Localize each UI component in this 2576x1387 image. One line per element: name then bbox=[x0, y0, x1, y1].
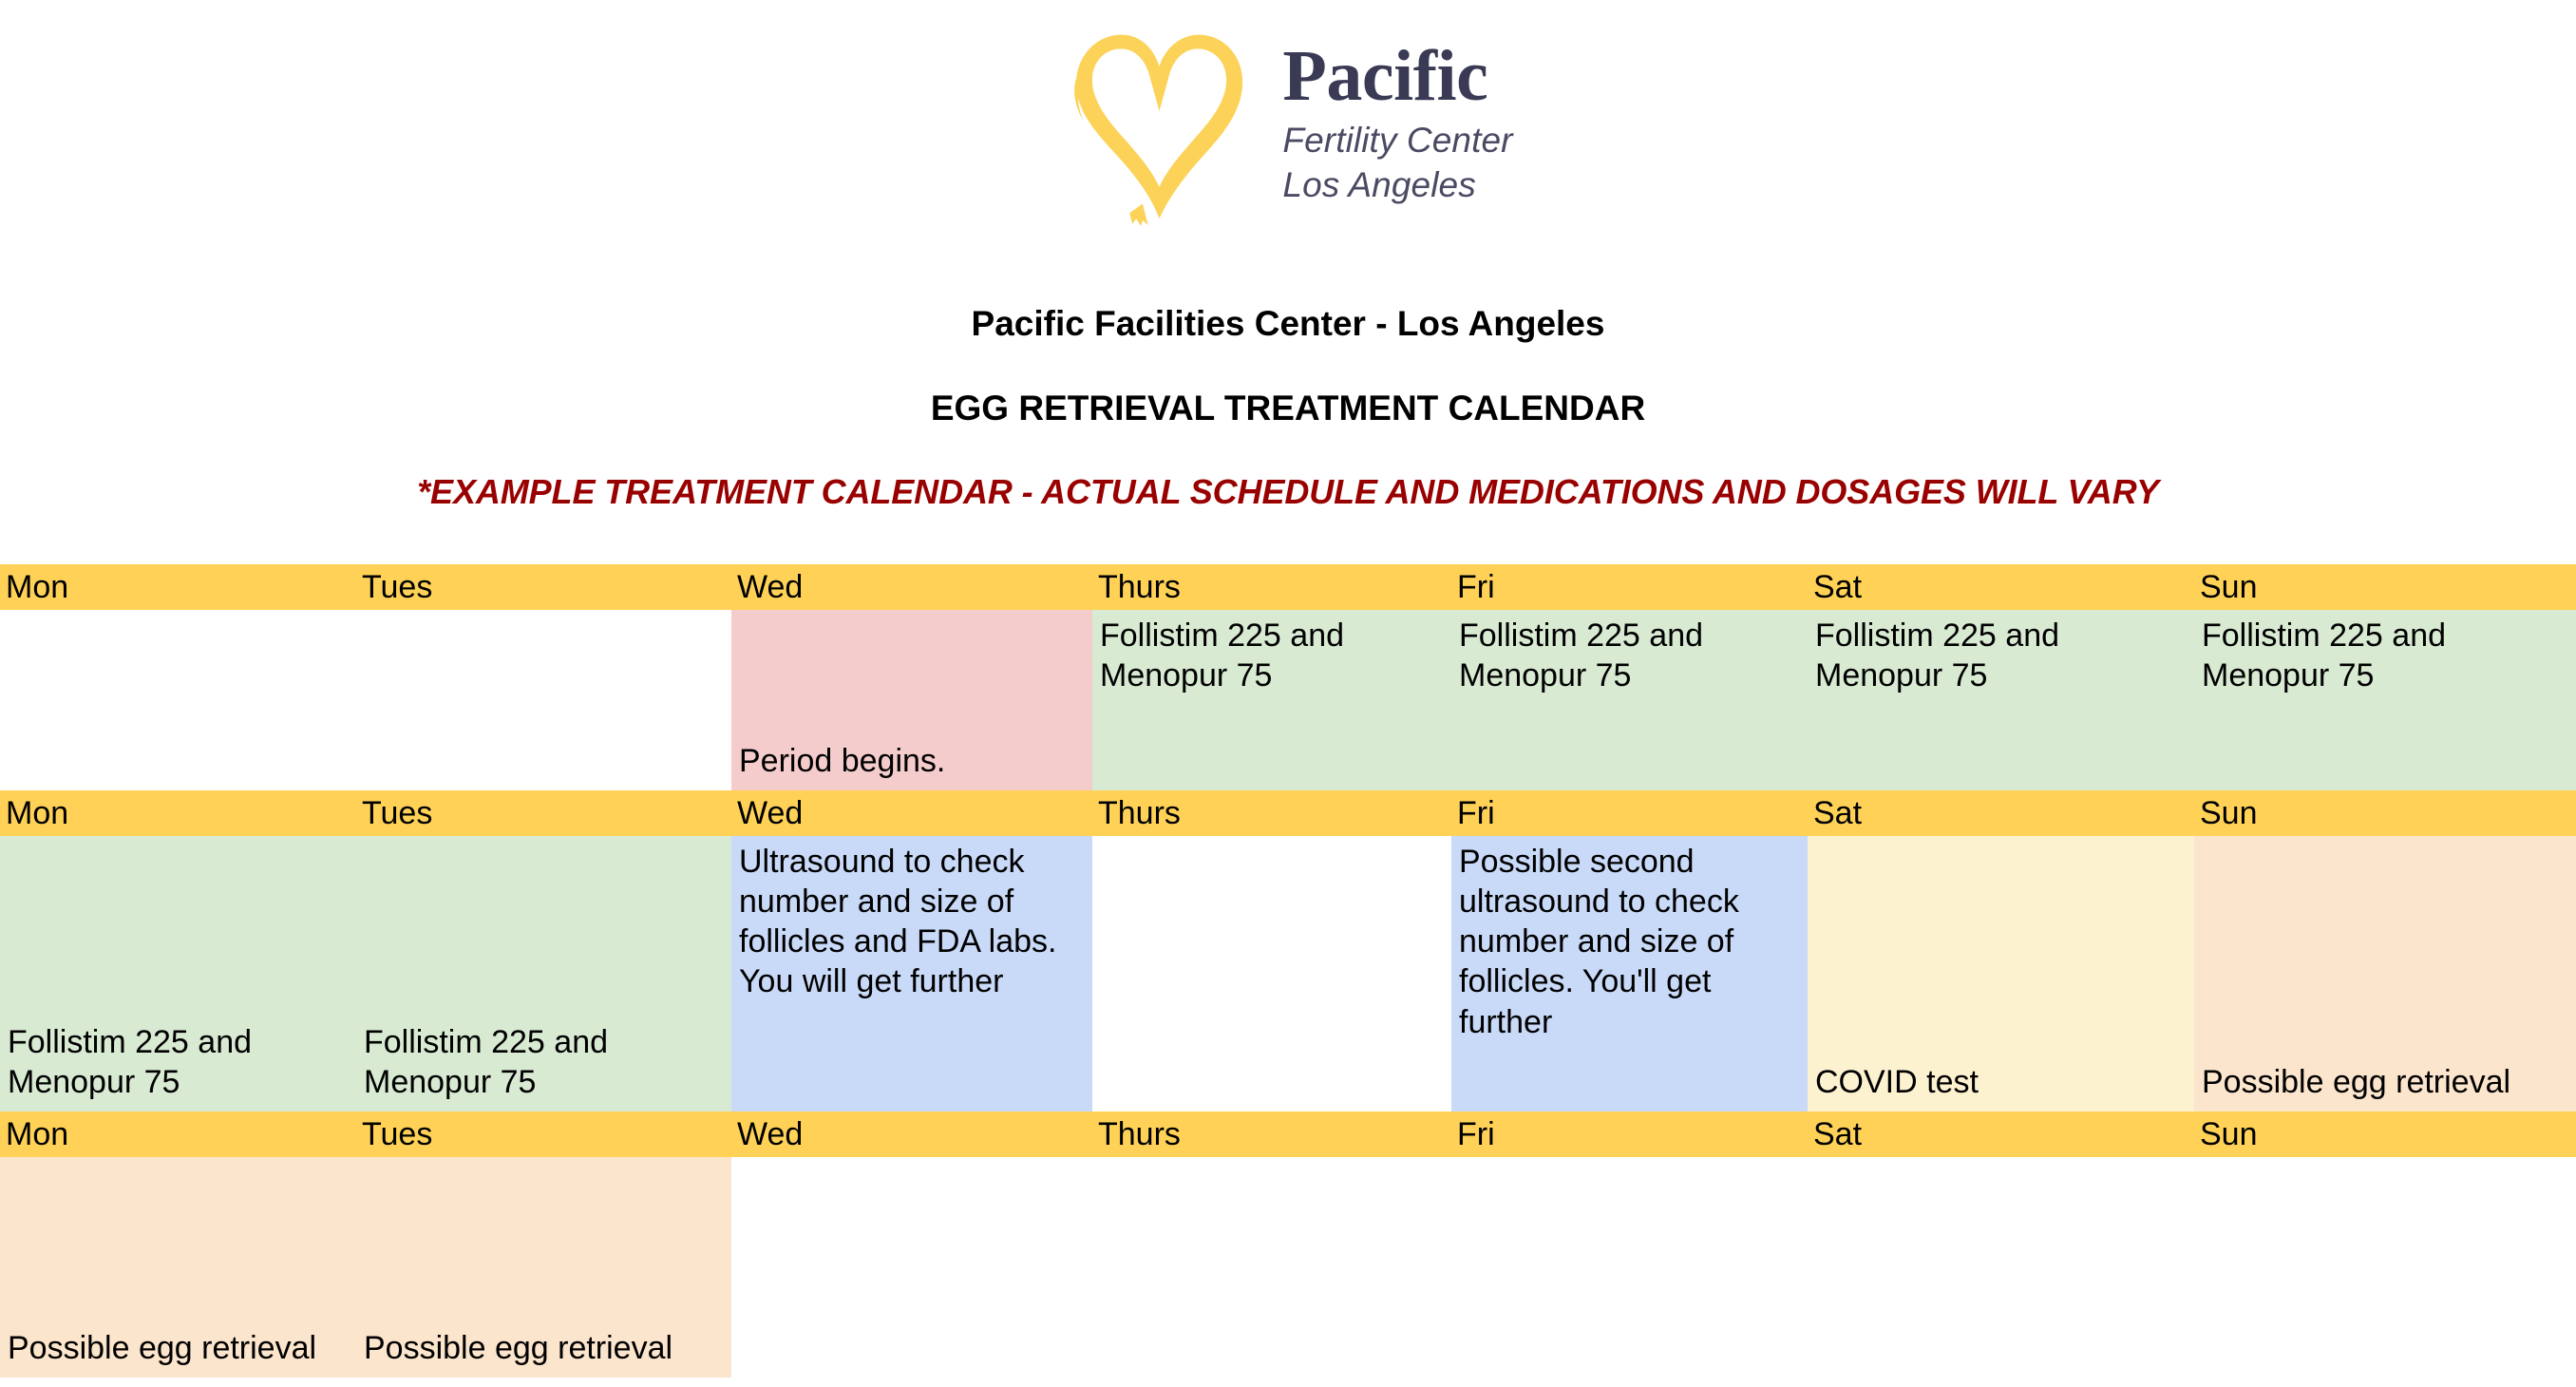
calendar-cell-text: Ultrasound to check number and size of f… bbox=[739, 842, 1083, 1002]
day-label-sat: Sat bbox=[1808, 790, 2194, 836]
day-label-sun: Sun bbox=[2194, 1111, 2576, 1157]
logo-brand-text: Pacific bbox=[1282, 40, 1512, 112]
calendar-cell-text: Possible second ultrasound to check numb… bbox=[1459, 842, 1798, 1042]
day-label-tues: Tues bbox=[356, 790, 731, 836]
calendar-week-row: Follistim 225 and Menopur 75Follistim 22… bbox=[0, 836, 2576, 1111]
day-label-sun: Sun bbox=[2194, 790, 2576, 836]
calendar-cell-text: Follistim 225 and Menopur 75 bbox=[2202, 616, 2567, 695]
day-label-fri: Fri bbox=[1451, 790, 1808, 836]
day-label-fri: Fri bbox=[1451, 564, 1808, 610]
calendar-cell-text: Follistim 225 and Menopur 75 bbox=[1459, 616, 1798, 695]
day-label-mon: Mon bbox=[0, 1111, 356, 1157]
calendar-cell[interactable]: Follistim 225 and Menopur 75 bbox=[2194, 610, 2576, 790]
calendar-cell-text: Possible egg retrieval bbox=[8, 1328, 347, 1368]
heart-icon bbox=[1063, 22, 1258, 226]
treatment-calendar: MonTuesWedThursFriSatSunPeriod begins.Fo… bbox=[0, 564, 2576, 1377]
calendar-cell[interactable] bbox=[1092, 1157, 1451, 1377]
day-label-mon: Mon bbox=[0, 564, 356, 610]
day-header-row: MonTuesWedThursFriSatSun bbox=[0, 1111, 2576, 1157]
page-title: EGG RETRIEVAL TREATMENT CALENDAR bbox=[0, 341, 2576, 426]
day-label-fri: Fri bbox=[1451, 1111, 1808, 1157]
day-header-row: MonTuesWedThursFriSatSun bbox=[0, 790, 2576, 836]
calendar-cell-text: Follistim 225 and Menopur 75 bbox=[364, 1022, 722, 1102]
day-label-tues: Tues bbox=[356, 1111, 731, 1157]
day-label-mon: Mon bbox=[0, 790, 356, 836]
calendar-cell-text: Follistim 225 and Menopur 75 bbox=[8, 1022, 347, 1102]
calendar-cell-text: Follistim 225 and Menopur 75 bbox=[1815, 616, 2185, 695]
day-label-thurs: Thurs bbox=[1092, 564, 1451, 610]
calendar-cell[interactable]: Possible egg retrieval bbox=[2194, 836, 2576, 1111]
day-label-sat: Sat bbox=[1808, 1111, 2194, 1157]
logo-subtitle-line2: Los Angeles bbox=[1282, 162, 1512, 207]
day-label-tues: Tues bbox=[356, 564, 731, 610]
calendar-cell[interactable]: Follistim 225 and Menopur 75 bbox=[356, 836, 731, 1111]
calendar-cell[interactable] bbox=[731, 1157, 1092, 1377]
day-label-sun: Sun bbox=[2194, 564, 2576, 610]
clinic-logo: Pacific Fertility Center Los Angeles bbox=[0, 0, 2576, 237]
day-label-thurs: Thurs bbox=[1092, 790, 1451, 836]
calendar-cell[interactable]: Possible egg retrieval bbox=[356, 1157, 731, 1377]
calendar-cell[interactable] bbox=[0, 610, 356, 790]
calendar-week-row: Period begins.Follistim 225 and Menopur … bbox=[0, 610, 2576, 790]
calendar-cell[interactable]: Ultrasound to check number and size of f… bbox=[731, 836, 1092, 1111]
calendar-cell[interactable]: COVID test bbox=[1808, 836, 2194, 1111]
day-header-row: MonTuesWedThursFriSatSun bbox=[0, 564, 2576, 610]
calendar-cell[interactable]: Period begins. bbox=[731, 610, 1092, 790]
day-label-wed: Wed bbox=[731, 790, 1092, 836]
day-label-sat: Sat bbox=[1808, 564, 2194, 610]
calendar-cell[interactable]: Possible egg retrieval bbox=[0, 1157, 356, 1377]
calendar-cell[interactable] bbox=[1808, 1157, 2194, 1377]
clinic-name: Pacific Facilities Center - Los Angeles bbox=[0, 237, 2576, 341]
calendar-cell-text: Follistim 225 and Menopur 75 bbox=[1100, 616, 1442, 695]
calendar-cell[interactable]: Follistim 225 and Menopur 75 bbox=[0, 836, 356, 1111]
document-header: Pacific Facilities Center - Los Angeles … bbox=[0, 237, 2576, 509]
logo-subtitle-line1: Fertility Center bbox=[1282, 118, 1512, 162]
calendar-cell[interactable] bbox=[356, 610, 731, 790]
calendar-cell-text: Possible egg retrieval bbox=[2202, 1062, 2567, 1102]
calendar-week-row: Possible egg retrievalPossible egg retri… bbox=[0, 1157, 2576, 1377]
day-label-thurs: Thurs bbox=[1092, 1111, 1451, 1157]
day-label-wed: Wed bbox=[731, 564, 1092, 610]
calendar-cell[interactable]: Follistim 225 and Menopur 75 bbox=[1092, 610, 1451, 790]
calendar-cell-text: Possible egg retrieval bbox=[364, 1328, 722, 1368]
calendar-cell[interactable]: Follistim 225 and Menopur 75 bbox=[1451, 610, 1808, 790]
calendar-cell-text: COVID test bbox=[1815, 1062, 2185, 1102]
disclaimer-text: *EXAMPLE TREATMENT CALENDAR - ACTUAL SCH… bbox=[0, 426, 2576, 509]
day-label-wed: Wed bbox=[731, 1111, 1092, 1157]
calendar-cell[interactable] bbox=[1092, 836, 1451, 1111]
calendar-cell[interactable]: Follistim 225 and Menopur 75 bbox=[1808, 610, 2194, 790]
calendar-cell[interactable] bbox=[1451, 1157, 1808, 1377]
calendar-cell-text: Period begins. bbox=[739, 741, 1083, 781]
calendar-cell[interactable] bbox=[2194, 1157, 2576, 1377]
calendar-cell[interactable]: Possible second ultrasound to check numb… bbox=[1451, 836, 1808, 1111]
